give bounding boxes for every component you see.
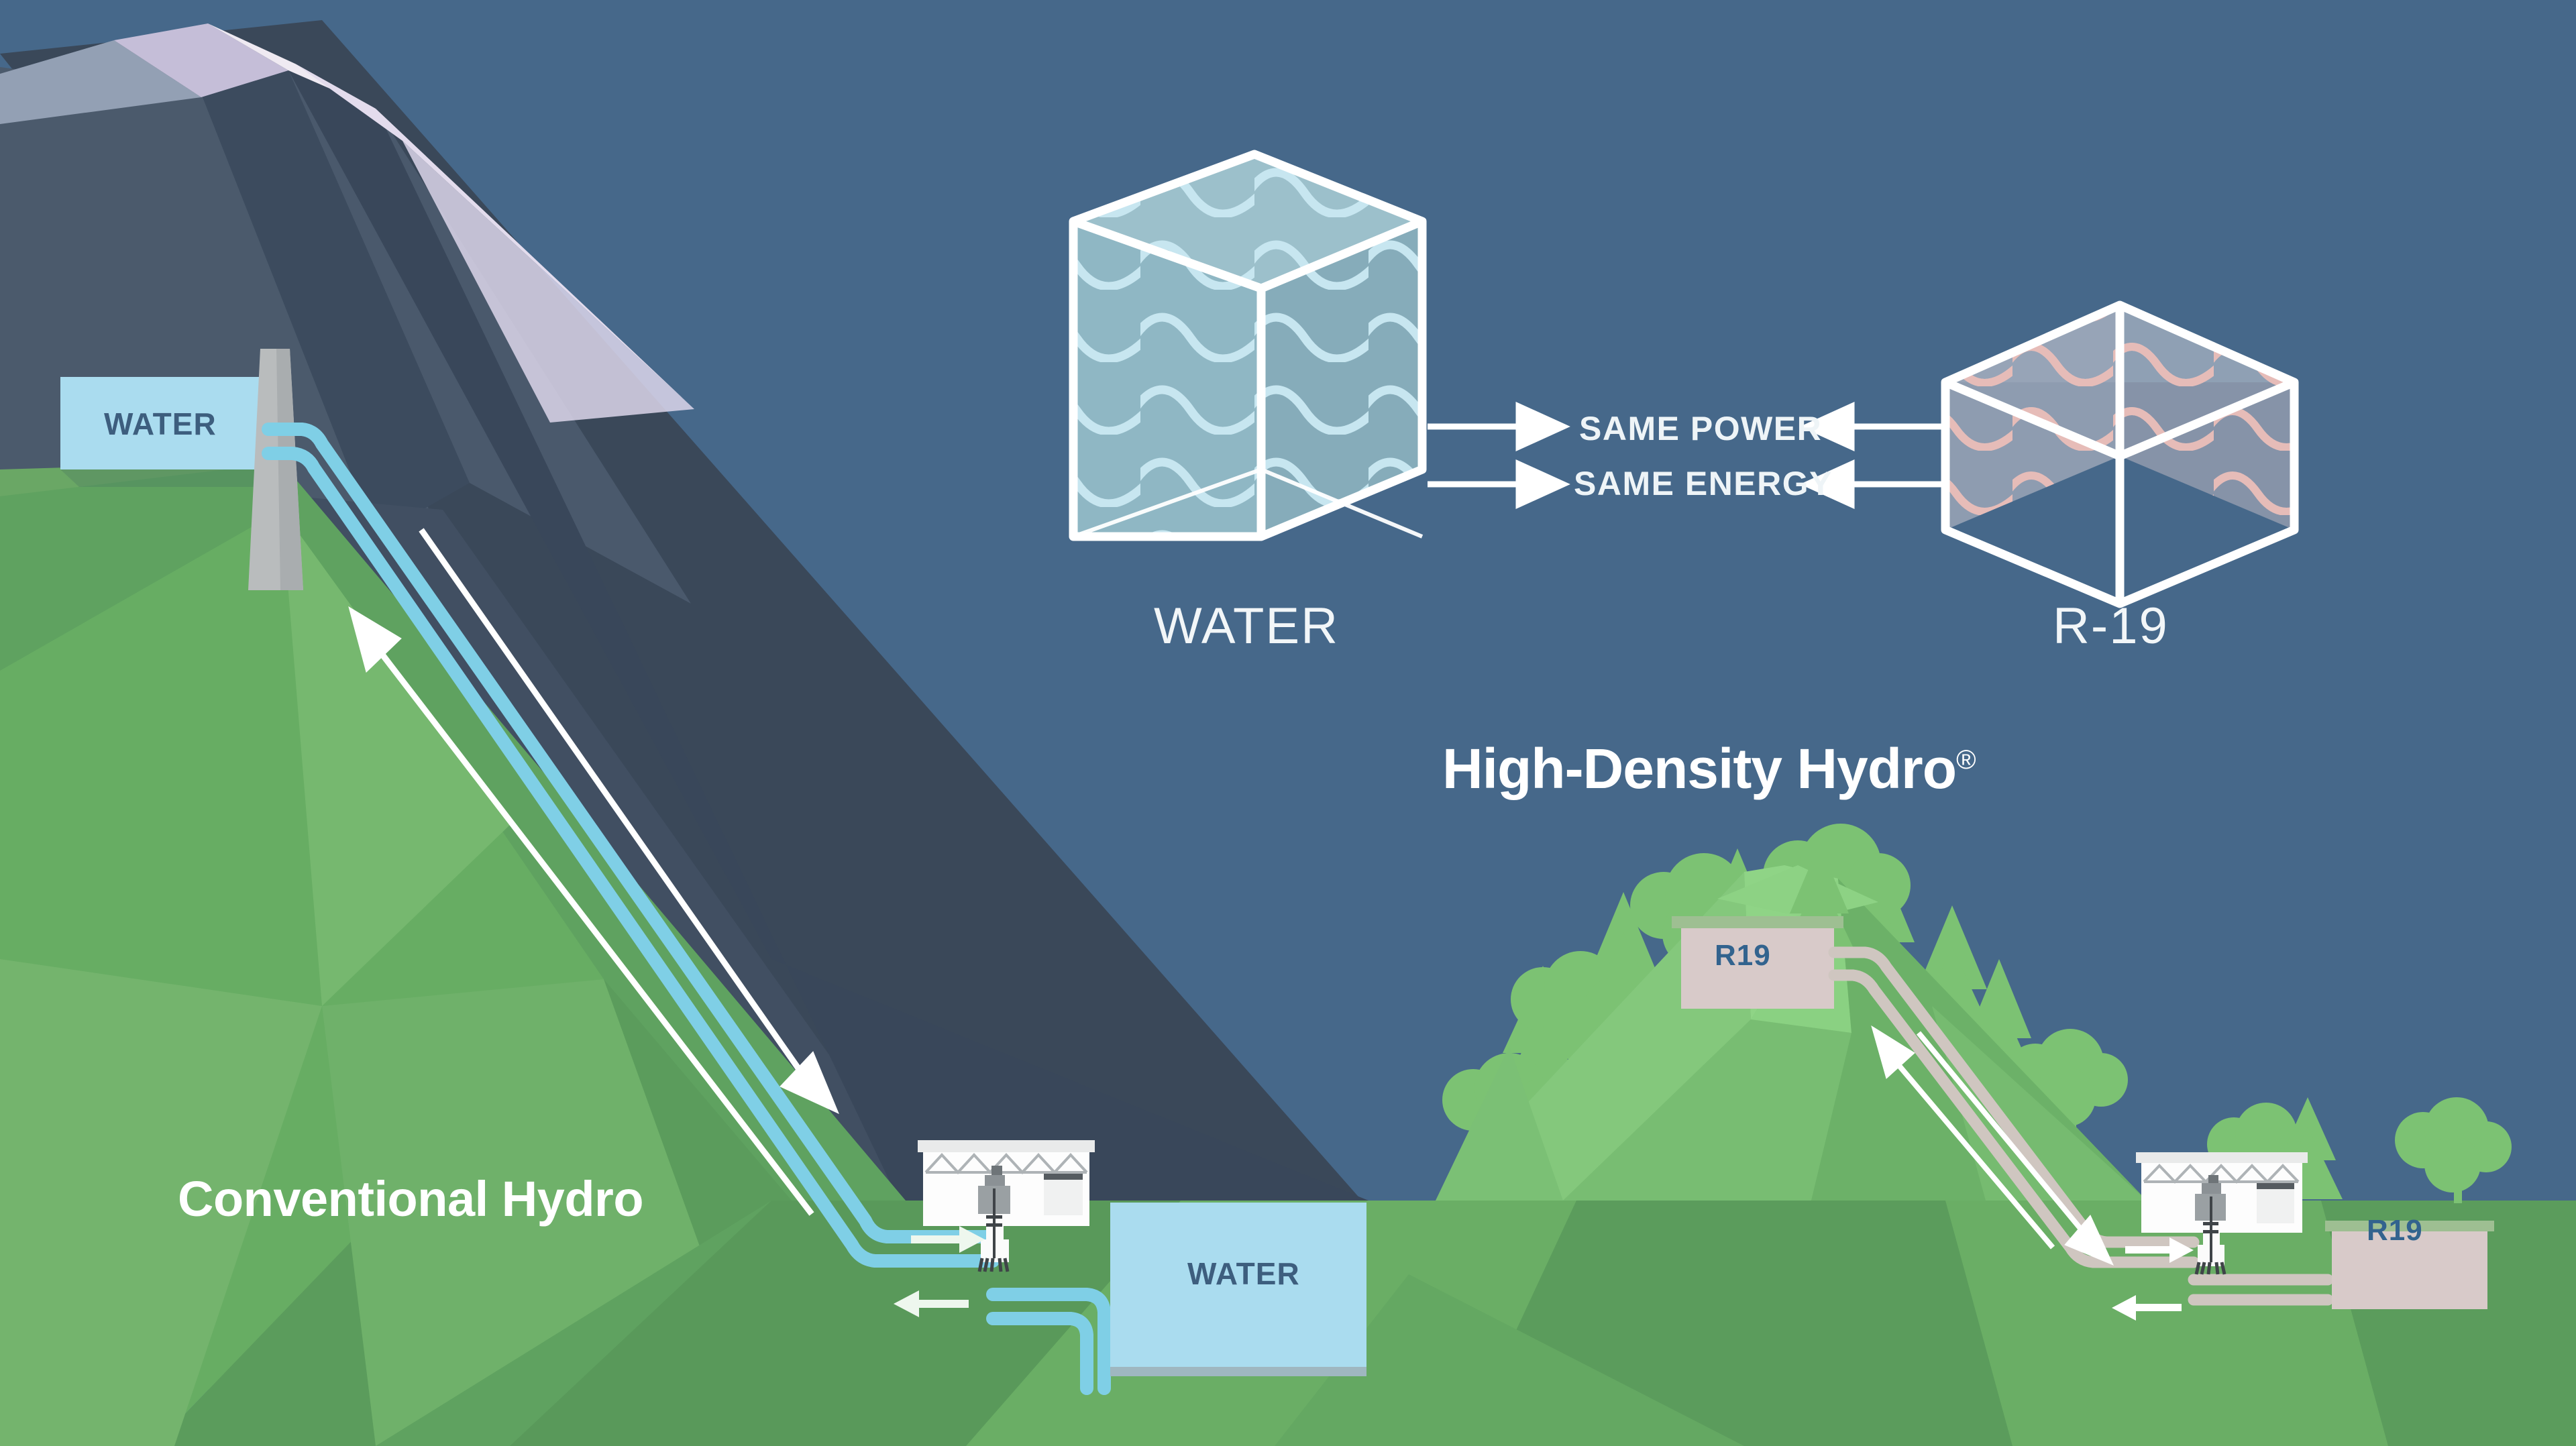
r19-upper-tank-roof xyxy=(1672,916,1843,928)
powerhouse-left-roof xyxy=(918,1140,1095,1152)
lower-reservoir-shadow xyxy=(1110,1367,1366,1376)
upper-reservoir-basin xyxy=(60,377,282,469)
r19-upper-tank xyxy=(1672,916,1843,1009)
r19-lower-tank-roof xyxy=(2325,1221,2494,1231)
lower-reservoir-basin xyxy=(1110,1203,1366,1367)
infographic-root: WATER R-19 SAME POWER SAME ENERGY High-D… xyxy=(0,0,2576,1446)
powerhouse-right-roof xyxy=(2136,1152,2308,1163)
powerhouse-right-tank xyxy=(2257,1184,2294,1223)
r19-lower-tank xyxy=(2325,1221,2494,1309)
scene-illustration xyxy=(0,0,2576,1446)
powerhouse-right-tank-cap xyxy=(2257,1183,2294,1189)
upper-reservoir xyxy=(60,377,282,487)
r19-lower-tank-body xyxy=(2332,1231,2487,1309)
lower-reservoir xyxy=(1110,1203,1366,1376)
powerhouse-left-tank-cap xyxy=(1044,1174,1083,1180)
r19-upper-tank-body xyxy=(1681,928,1834,1009)
powerhouse-left-tank xyxy=(1044,1175,1083,1215)
upper-reservoir-shadow xyxy=(60,469,282,487)
